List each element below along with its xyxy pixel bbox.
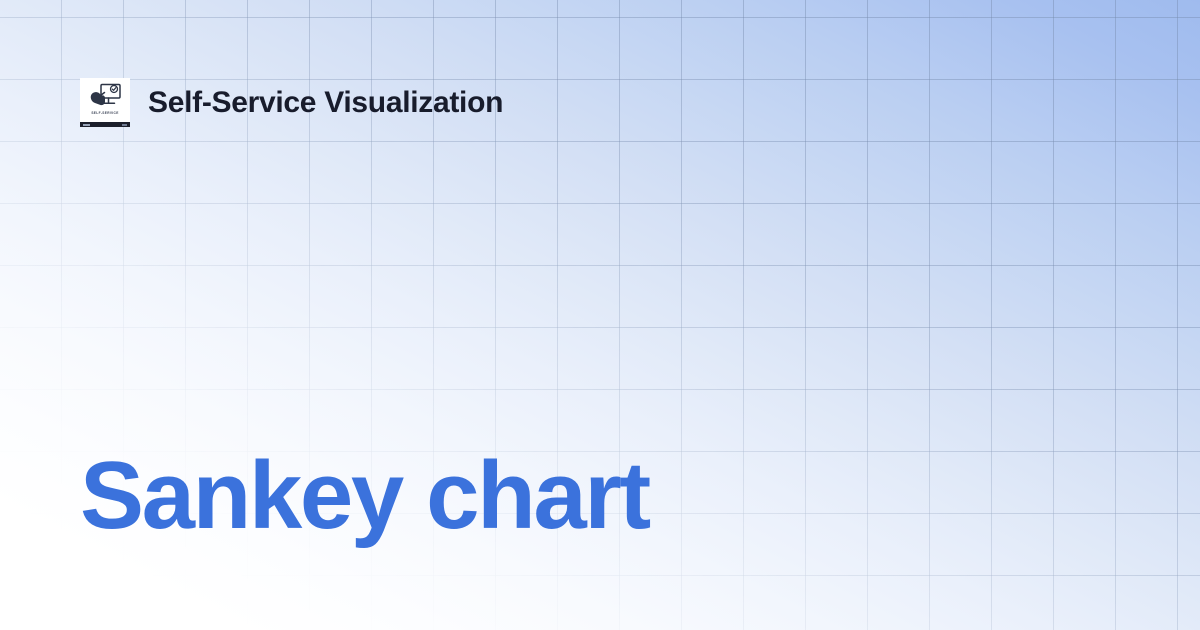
logo-footer-accent-right xyxy=(122,124,127,126)
logo-footer-accent-left xyxy=(83,124,90,126)
logo-caption: SELF-SERVICE xyxy=(91,112,118,115)
logo-tile: SELF-SERVICE xyxy=(80,78,130,127)
logo-footer-bar xyxy=(80,122,130,127)
brand-header: SELF-SERVICE Self-Service Visualization xyxy=(80,78,503,127)
page-title: Sankey chart xyxy=(80,448,649,544)
cover-canvas: SELF-SERVICE Self-Service Visualization … xyxy=(0,0,1200,630)
self-service-monitor-icon xyxy=(88,83,122,108)
product-name: Self-Service Visualization xyxy=(148,88,503,118)
